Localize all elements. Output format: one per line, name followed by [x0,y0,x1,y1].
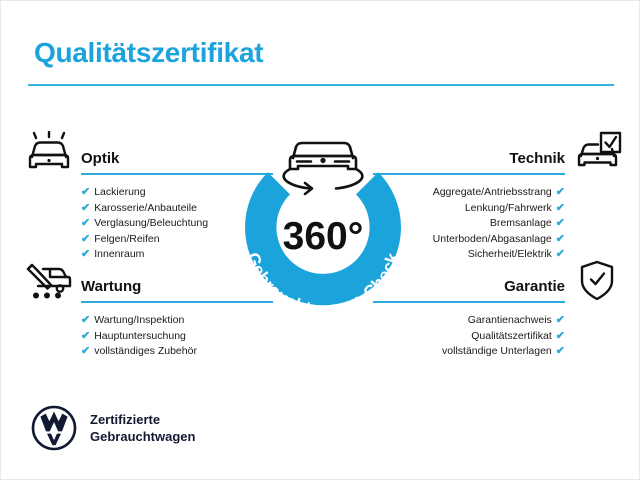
footer-brand: Zertifizierte Gebrauchtwagen [31,405,195,451]
list-item-label: Lackierung [94,186,145,198]
list-item-label: Unterboden/Abgasanlage [433,233,552,245]
badge-360-check: 360° Gebrauchtwagen-Check [223,119,423,324]
list-item-label: Verglasung/Beleuchtung [94,217,208,229]
section-title: Optik [81,150,119,167]
list-item-label: Lenkung/Fahrwerk [465,202,552,214]
check-icon: ✔ [556,202,565,214]
check-icon: ✔ [81,314,90,326]
check-icon: ✔ [81,233,90,245]
shield-check-icon [571,259,623,303]
footer-brand-text: Zertifizierte Gebrauchtwagen [90,411,195,445]
page-title: Qualitätszertifikat [34,37,263,69]
list-item: ✔Hauptuntersuchung [81,329,273,345]
list-item-label: Felgen/Reifen [94,233,159,245]
check-icon: ✔ [81,217,90,229]
list-item-label: Qualitätszertifikat [471,330,552,342]
check-icon: ✔ [556,345,565,357]
title-divider [28,84,614,86]
list-item-label: vollständiges Zubehör [94,345,197,357]
list-item-label: Hauptuntersuchung [94,330,186,342]
list-item-label: vollständige Unterlagen [442,345,552,357]
badge-center-label: 360° [283,215,364,258]
car-rotate-icon [284,143,363,194]
section-title: Wartung [81,278,141,295]
check-icon: ✔ [556,233,565,245]
section-title: Garantie [504,278,565,295]
check-icon: ✔ [556,330,565,342]
section-title: Technik [509,150,565,167]
list-item-label: Garantienachweis [468,314,552,326]
list-item-label: Bremsanlage [490,217,552,229]
list-item-label: Karosserie/Anbauteile [94,202,197,214]
list-item: Qualitätszertifikat✔ [373,329,565,345]
check-icon: ✔ [556,186,565,198]
check-icon: ✔ [556,314,565,326]
check-icon: ✔ [81,186,90,198]
vw-logo-icon [31,405,77,451]
check-icon: ✔ [556,217,565,229]
certificate-page: Qualitätszertifikat Optik ✔Lackierung ✔K… [0,0,640,480]
check-icon: ✔ [81,202,90,214]
car-checkbox-icon [571,131,623,175]
list-item-label: Wartung/Inspektion [94,314,184,326]
check-icon: ✔ [81,345,90,357]
list-item-label: Aggregate/Antriebsstrang [433,186,552,198]
check-icon: ✔ [81,330,90,342]
list-item: vollständige Unterlagen✔ [373,344,565,360]
list-item: ✔vollständiges Zubehör [81,344,273,360]
car-front-shine-icon [23,131,75,175]
car-wrench-icon [23,259,75,303]
